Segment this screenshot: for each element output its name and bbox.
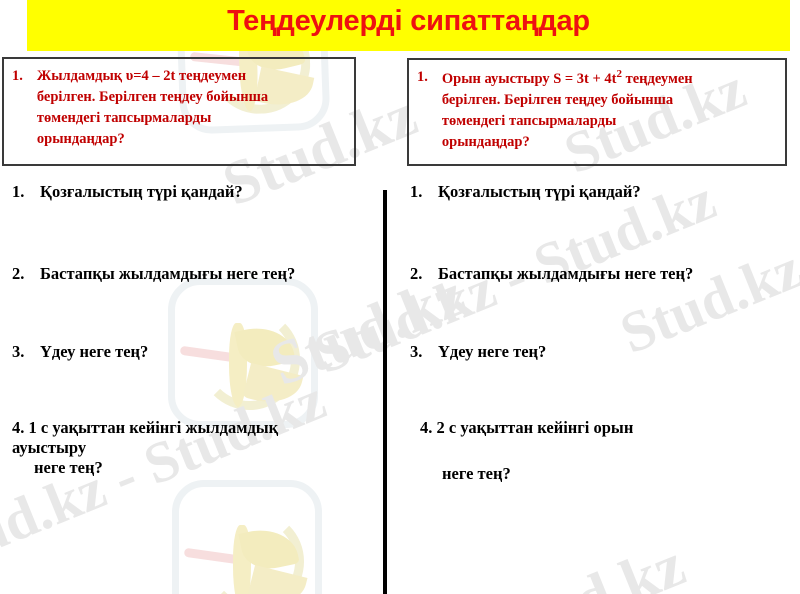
question-line-spacer — [420, 438, 633, 464]
task-right-line1-c: теңдеумен — [626, 71, 693, 87]
question-text: 4. 1 с уақыттан кейінгі жылдамдық ауысты… — [12, 418, 278, 478]
question-line: неге тең? — [420, 464, 633, 484]
task-right-line-1: Орын ауыстыру S = 3t + 4t2 теңдеумен — [442, 67, 777, 90]
task-left-line3-b: тапсырмаларды — [104, 110, 211, 126]
question-line: 4. 2 с уақыттан кейінгі орын — [420, 418, 633, 438]
task-left-line-4: орындаңдар? — [37, 129, 346, 150]
question-item: 2. Бастапқы жылдамдығы неге тең? — [410, 264, 693, 284]
task-left-content: 1. Жылдамдық υ=4 – 2t теңдеумен берілген… — [4, 59, 354, 150]
task-left-line-3: төмендегі тапсырмаларды — [37, 108, 346, 129]
task-right-line2-a: берілген. — [442, 92, 501, 108]
task-right-line-4: орындаңдар? — [442, 132, 777, 153]
page-title: Теңдеулерді сипаттаңдар — [27, 5, 790, 38]
question-text: Үдеу неге тең? — [438, 342, 546, 362]
question-line: Бастапқы жылдамдығы неге тең? — [438, 264, 693, 284]
title-banner: Теңдеулерді сипаттаңдар — [27, 0, 790, 51]
task-left-line3-a: төмендегі — [37, 110, 100, 126]
question-number: 2. — [410, 264, 438, 284]
question-line: Үдеу неге тең? — [438, 342, 546, 362]
task-left-line1-a: Жылдамдық — [37, 68, 122, 84]
task-right-equation: Орын ауыстыру S = 3t + 4t2 — [442, 71, 622, 87]
task-left-line1-c: теңдеумен — [179, 68, 246, 84]
task-left-line-2: берілген. Берілген теңдеу бойынша — [37, 87, 346, 108]
question-line: Қозғалыстың түрі қандай? — [40, 182, 243, 202]
task-box-right: 1. Орын ауыстыру S = 3t + 4t2 теңдеумен … — [407, 58, 787, 166]
task-right-text: Орын ауыстыру S = 3t + 4t2 теңдеумен бер… — [442, 67, 777, 153]
task-right-line-3: төмендегі тапсырмаларды — [442, 111, 777, 132]
stud-kz-logo-icon — [172, 480, 322, 594]
watermark-text: Stud.kz — [481, 530, 695, 594]
question-number: 4. — [12, 418, 24, 437]
question-number: 1. — [410, 182, 438, 202]
task-left-text: Жылдамдық υ=4 – 2t теңдеумен берілген. Б… — [37, 66, 346, 150]
task-right-line-2: берілген. Берілген теңдеу бойынша — [442, 90, 777, 111]
question-text: Бастапқы жылдамдығы неге тең? — [438, 264, 693, 284]
question-number: 3. — [410, 342, 438, 362]
question-item: 1. Қозғалыстың түрі қандай? — [12, 182, 243, 202]
question-line: Қозғалыстың түрі қандай? — [438, 182, 641, 202]
question-text: Қозғалыстың түрі қандай? — [40, 182, 243, 202]
question-line-text: 1 с уақыттан кейінгі жылдамдық — [29, 418, 279, 437]
question-line-text: 2 с уақыттан кейінгі орын — [437, 418, 634, 437]
slide-canvas: Stud.kz Stud.kz Stud.kz Stud.kz - Stud.k… — [0, 0, 800, 594]
task-right-line2-b: Берілген — [504, 92, 561, 108]
question-line: неге тең? — [12, 458, 278, 478]
watermark-text: Stud.kz — [611, 234, 800, 367]
question-number: 4. — [420, 418, 432, 437]
question-text: 4. 2 с уақыттан кейінгі орын неге тең? — [420, 418, 633, 484]
question-text: Бастапқы жылдамдығы неге тең? — [40, 264, 295, 284]
question-line: Үдеу неге тең? — [40, 342, 148, 362]
task-right-number: 1. — [417, 67, 442, 153]
question-number: 3. — [12, 342, 40, 362]
question-line: 4. 1 с уақыттан кейінгі жылдамдық — [12, 418, 278, 438]
column-divider — [383, 190, 387, 594]
task-right-content: 1. Орын ауыстыру S = 3t + 4t2 теңдеумен … — [409, 60, 785, 153]
question-item: 4. 1 с уақыттан кейінгі жылдамдық ауысты… — [12, 418, 278, 478]
question-item: 1. Қозғалыстың түрі қандай? — [410, 182, 641, 202]
task-left-equation: υ=4 – 2t — [126, 68, 176, 84]
question-text: Үдеу неге тең? — [40, 342, 148, 362]
task-right-line3-b: тапсырмаларды — [509, 113, 616, 129]
task-right-equation-exponent: 2 — [616, 68, 622, 80]
task-right-line3-a: төмендегі — [442, 113, 505, 129]
task-box-left: 1. Жылдамдық υ=4 – 2t теңдеумен берілген… — [2, 57, 356, 166]
question-line: ауыстыру — [12, 438, 278, 458]
question-number: 2. — [12, 264, 40, 284]
task-left-number: 1. — [12, 66, 37, 150]
question-item: 3. Үдеу неге тең? — [12, 342, 148, 362]
question-item: 3. Үдеу неге тең? — [410, 342, 546, 362]
task-left-line-1: Жылдамдық υ=4 – 2t теңдеумен — [37, 66, 346, 87]
question-line: Бастапқы жылдамдығы неге тең? — [40, 264, 295, 284]
question-item: 2. Бастапқы жылдамдығы неге тең? — [12, 264, 295, 284]
question-number: 1. — [12, 182, 40, 202]
stud-kz-logo-icon — [168, 278, 318, 428]
task-right-line2-d: бойынша — [611, 92, 673, 108]
question-item: 4. 2 с уақыттан кейінгі орын неге тең? — [420, 418, 633, 484]
task-right-equation-base: Орын ауыстыру S = 3t + 4t — [442, 71, 617, 87]
question-text: Қозғалыстың түрі қандай? — [438, 182, 641, 202]
task-right-line2-c: теңдеу — [565, 92, 608, 108]
